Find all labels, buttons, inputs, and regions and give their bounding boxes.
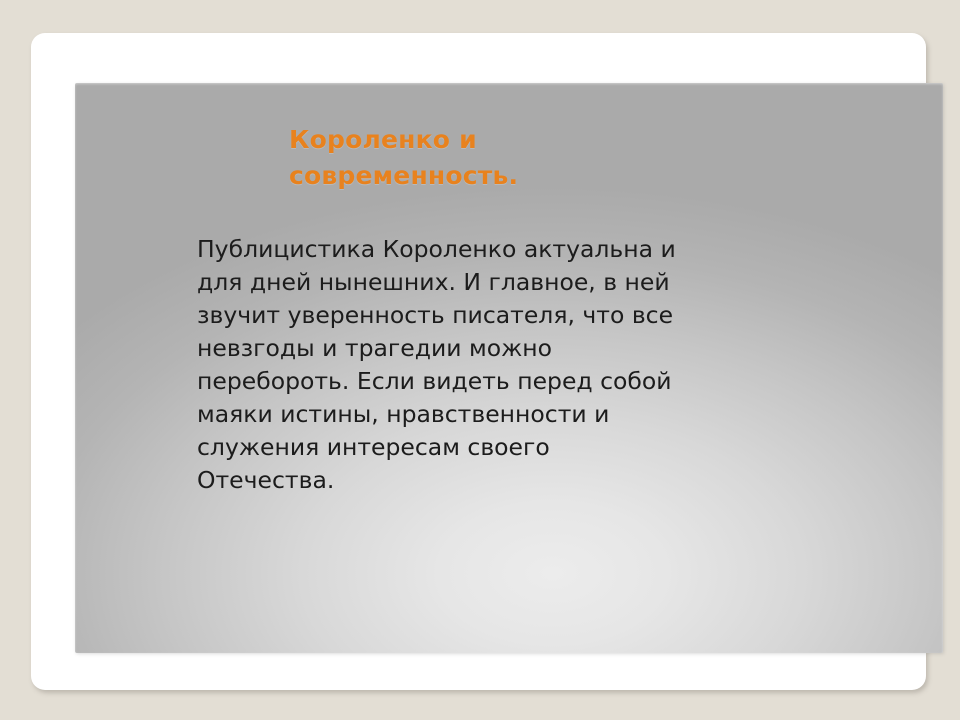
slide-body-text: Публицистика Короленко актуальна и для д… — [197, 233, 767, 497]
slide-frame: Короленко и современность. Публицистика … — [31, 33, 926, 690]
slide-title: Короленко и современность. — [289, 122, 709, 194]
slide-stage: Короленко и современность. Публицистика … — [0, 0, 960, 720]
